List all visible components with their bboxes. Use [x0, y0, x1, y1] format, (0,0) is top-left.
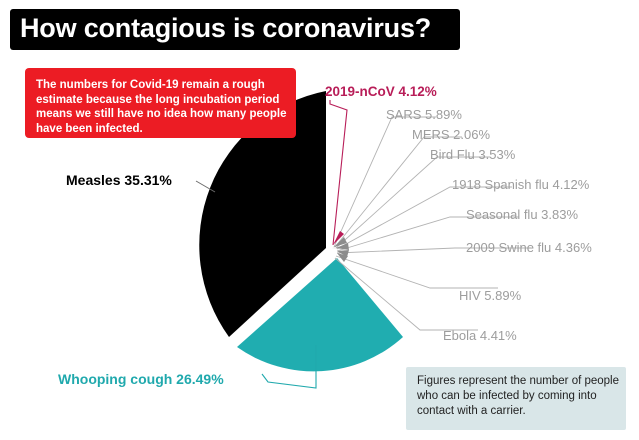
label-swine-flu: 2009 Swine flu 4.36%: [466, 240, 592, 255]
figures-note-text: Figures represent the number of people w…: [417, 374, 622, 419]
label-sars: SARS 5.89%: [386, 107, 462, 122]
label-whooping-cough: Whooping cough 26.49%: [58, 371, 224, 387]
label-mers: MERS 2.06%: [412, 127, 490, 142]
label-seasonal-flu: Seasonal flu 3.83%: [466, 207, 578, 222]
label-hiv: HIV 5.89%: [459, 288, 521, 303]
label-bird-flu: Bird Flu 3.53%: [430, 147, 515, 162]
label-ncov: 2019-nCoV 4.12%: [325, 84, 437, 99]
label-measles: Measles 35.31%: [66, 172, 172, 188]
label-spanish-flu: 1918 Spanish flu 4.12%: [452, 177, 589, 192]
label-ebola: Ebola 4.41%: [443, 328, 517, 343]
infographic-canvas: How contagious is coronavirus?: [0, 0, 639, 440]
covid-estimate-text: The numbers for Covid-19 remain a rough …: [36, 78, 292, 136]
